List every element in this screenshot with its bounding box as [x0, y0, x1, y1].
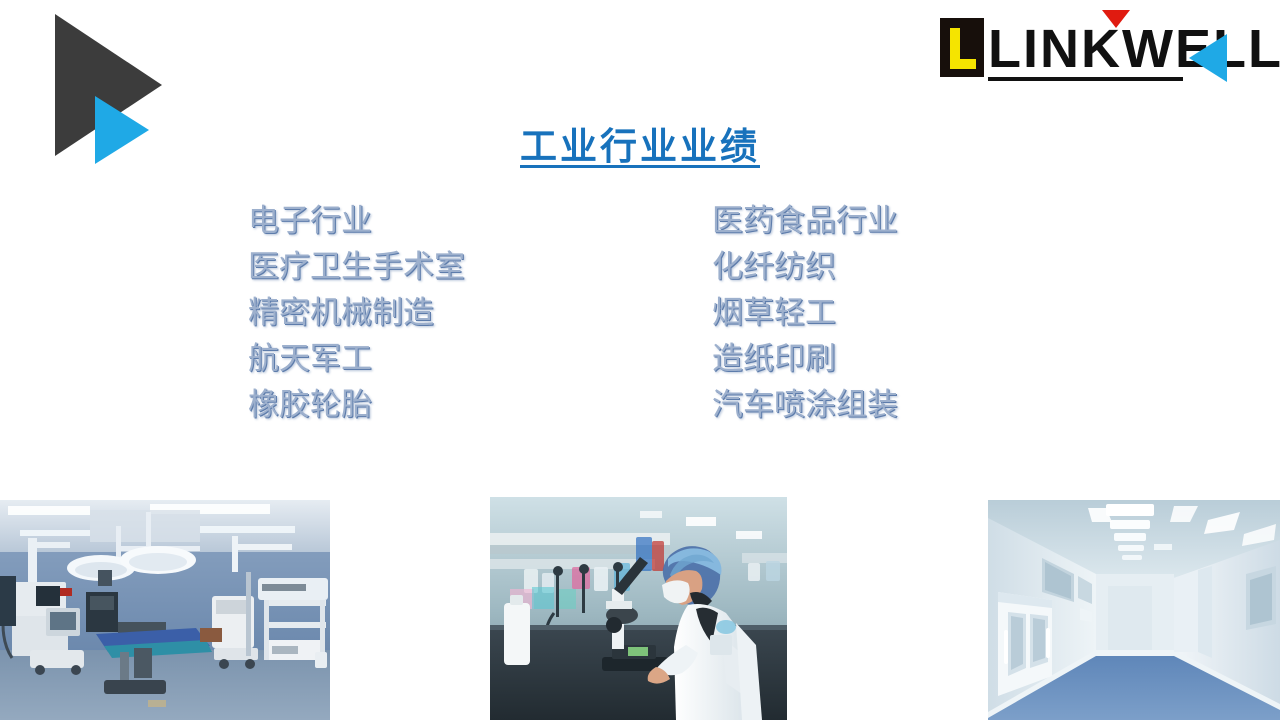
- logo-letter-l-icon: [950, 28, 976, 69]
- page-title: 工业行业业绩: [0, 116, 1280, 170]
- list-item: 电子行业: [248, 198, 465, 244]
- cleanroom-corridor-photo: [988, 500, 1280, 720]
- logo-badge-square: [940, 18, 984, 77]
- cleanroom-illustration: [988, 500, 1280, 720]
- decorative-arrows: [0, 0, 200, 200]
- slide-root: LINKWELL 工业行业业绩 电子行业 医疗卫生手术室 精密机械制造 航天军工…: [0, 0, 1280, 720]
- laboratory-microscope-photo: [490, 497, 787, 720]
- triangle-left-cyan-icon: [1189, 34, 1227, 82]
- industry-column-right: 医药食品行业 化纤纺织 烟草轻工 造纸印刷 汽车喷涂组装: [712, 198, 898, 428]
- list-item: 化纤纺织: [712, 244, 898, 290]
- list-item: 精密机械制造: [248, 290, 465, 336]
- list-item: 航天军工: [248, 336, 465, 382]
- list-item: 医药食品行业: [712, 198, 898, 244]
- list-item: 造纸印刷: [712, 336, 898, 382]
- operating-room-photo: [0, 500, 330, 720]
- list-item: 医疗卫生手术室: [248, 244, 465, 290]
- list-item: 橡胶轮胎: [248, 382, 465, 428]
- laboratory-illustration: [490, 497, 787, 720]
- list-item: 烟草轻工: [712, 290, 898, 336]
- logo-wordmark: LINKWELL: [988, 22, 1280, 76]
- logo-underline-rule: [988, 77, 1183, 81]
- linkwell-logo: LINKWELL: [934, 8, 1254, 92]
- triangle-down-red-icon: [1102, 10, 1130, 28]
- industry-lists: 电子行业 医疗卫生手术室 精密机械制造 航天军工 橡胶轮胎 医药食品行业 化纤纺…: [0, 198, 1280, 438]
- list-item: 汽车喷涂组装: [712, 382, 898, 428]
- operating-room-illustration: [0, 500, 330, 720]
- industry-column-left: 电子行业 医疗卫生手术室 精密机械制造 航天军工 橡胶轮胎: [248, 198, 465, 428]
